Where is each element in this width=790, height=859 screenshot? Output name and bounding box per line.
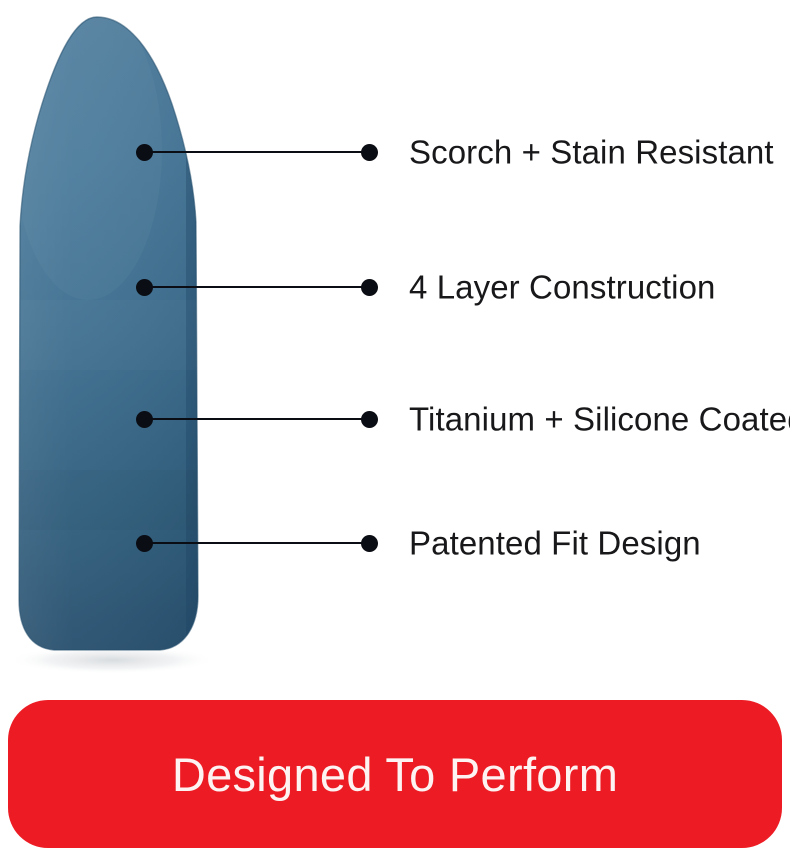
tagline-banner: Designed To Perform: [8, 700, 782, 848]
tagline-banner-label: Designed To Perform: [172, 751, 618, 798]
callout-end-dot-icon: [361, 279, 378, 296]
callout-end-dot-icon: [361, 144, 378, 161]
callout-leader-line: [144, 542, 370, 544]
feature-label-4: Patented Fit Design: [409, 527, 701, 560]
callout-leader-line: [144, 418, 370, 420]
feature-label-3: Titanium + Silicone Coated: [409, 403, 790, 436]
feature-label-2: 4 Layer Construction: [409, 271, 716, 304]
callout-end-dot-icon: [361, 411, 378, 428]
ironing-board-svg: [0, 0, 260, 700]
feature-label-1: Scorch + Stain Resistant: [409, 136, 774, 169]
product-infographic: Scorch + Stain Resistant 4 Layer Constru…: [0, 0, 790, 859]
ironing-board-cover-image: [0, 0, 260, 700]
board-fabric-band: [0, 470, 260, 530]
callout-leader-line: [144, 286, 370, 288]
callout-end-dot-icon: [361, 535, 378, 552]
board-fabric-band: [0, 300, 260, 370]
callout-leader-line: [144, 151, 370, 153]
